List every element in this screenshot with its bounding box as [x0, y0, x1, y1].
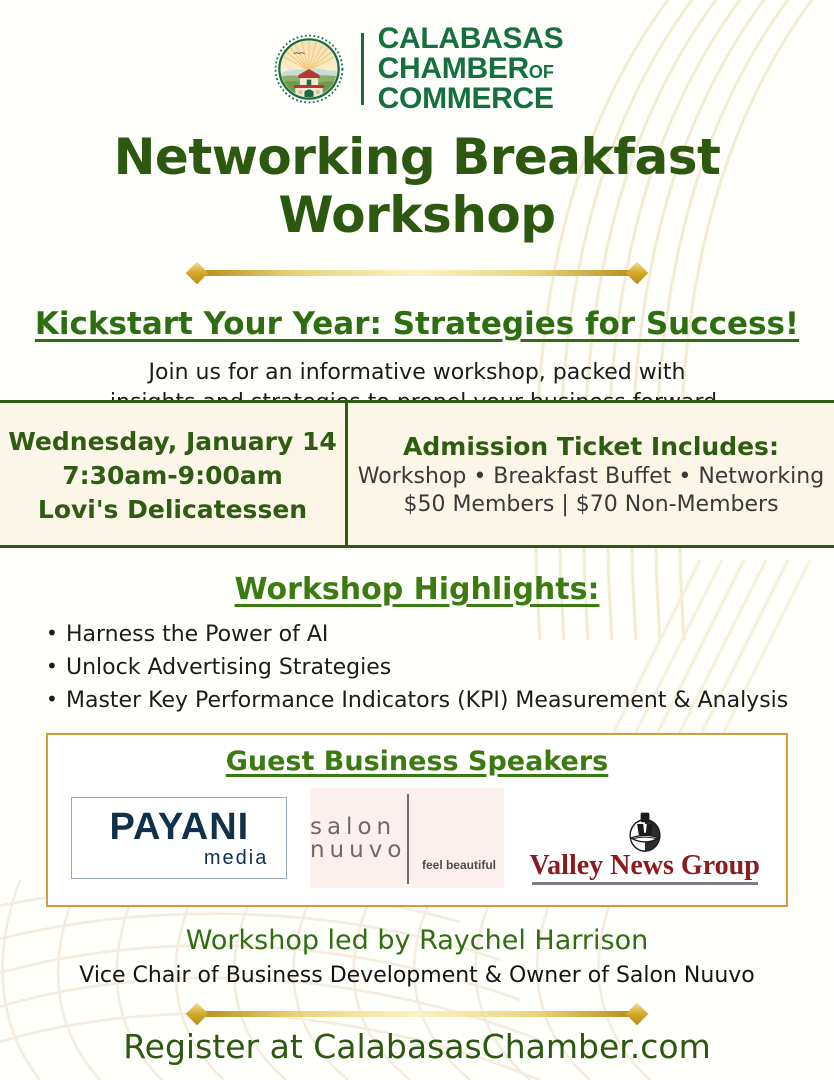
valley-logo-text: Valley News Group	[530, 851, 760, 880]
logo-vertical-rule	[361, 33, 364, 105]
list-item: Unlock Advertising Strategies	[46, 651, 834, 684]
subtitle: Kickstart Your Year: Strategies for Succ…	[0, 306, 834, 342]
diamond-ornament-right	[626, 262, 649, 285]
flyer-page: CALABASAS CHAMBEROF COMMERCE Networking …	[0, 0, 834, 1080]
page-title: Networking Breakfast Workshop	[0, 128, 834, 244]
chamber-logo: CALABASAS CHAMBEROF COMMERCE	[0, 0, 834, 112]
diamond-ornament-left	[186, 262, 209, 285]
speakers-heading: Guest Business Speakers	[48, 746, 786, 777]
calabasas-seal-icon	[271, 31, 347, 107]
admission-includes: Workshop • Breakfast Buffet • Networking	[358, 464, 824, 489]
highlights-heading: Workshop Highlights:	[0, 572, 834, 607]
salon-logo-main: salon nuuvo	[310, 816, 504, 862]
valley-logo-rule	[532, 882, 758, 885]
payani-logo-sub: media	[204, 848, 268, 868]
salon-logo-tagline: feel beautiful	[422, 858, 496, 872]
event-date: Wednesday, January 14	[8, 427, 336, 456]
workshop-leader-role: Vice Chair of Business Development & Own…	[0, 963, 834, 988]
list-item: Harness the Power of AI	[46, 618, 834, 651]
workshop-leader: Workshop led by Raychel Harrison	[0, 925, 834, 956]
diamond-ornament-right	[626, 1003, 649, 1026]
admission-panel: Admission Ticket Includes: Workshop • Br…	[348, 403, 834, 545]
sponsor-logo-strip: PAYANI media salon nuuvo feel beautiful	[48, 785, 786, 890]
list-item: Master Key Performance Indicators (KPI) …	[46, 684, 834, 717]
newspaper-reader-icon	[624, 809, 666, 853]
valley-news-group-logo: Valley News Group	[527, 789, 763, 887]
salon-nuuvo-logo: salon nuuvo feel beautiful	[310, 788, 504, 888]
gold-divider-top	[0, 262, 834, 284]
event-venue: Lovi's Delicatessen	[38, 495, 307, 524]
payani-logo-main: PAYANI	[109, 808, 249, 846]
event-info-box: Wednesday, January 14 7:30am-9:00am Lovi…	[0, 400, 834, 548]
highlights-list: Harness the Power of AI Unlock Advertisi…	[0, 618, 834, 717]
diamond-ornament-left	[186, 1003, 209, 1026]
wordmark-line-3: COMMERCE	[378, 84, 564, 114]
admission-heading: Admission Ticket Includes:	[403, 432, 779, 461]
admission-pricing: $50 Members | $70 Non-Members	[403, 492, 778, 517]
chamber-wordmark: CALABASAS CHAMBEROF COMMERCE	[378, 24, 564, 113]
intro-line-1: Join us for an informative workshop, pac…	[62, 358, 772, 388]
guest-speakers-box: Guest Business Speakers PAYANI media sal…	[46, 733, 788, 907]
wordmark-line-2: CHAMBEROF	[378, 54, 564, 84]
payani-media-logo: PAYANI media	[71, 797, 287, 879]
divider-bar	[202, 1011, 632, 1017]
event-time: 7:30am-9:00am	[62, 461, 283, 490]
gold-divider-bottom	[0, 1003, 834, 1025]
event-details-panel: Wednesday, January 14 7:30am-9:00am Lovi…	[0, 403, 348, 545]
wordmark-line-1: CALABASAS	[378, 24, 564, 54]
register-callout: Register at CalabasasChamber.com	[0, 1027, 834, 1066]
divider-bar	[202, 270, 632, 276]
